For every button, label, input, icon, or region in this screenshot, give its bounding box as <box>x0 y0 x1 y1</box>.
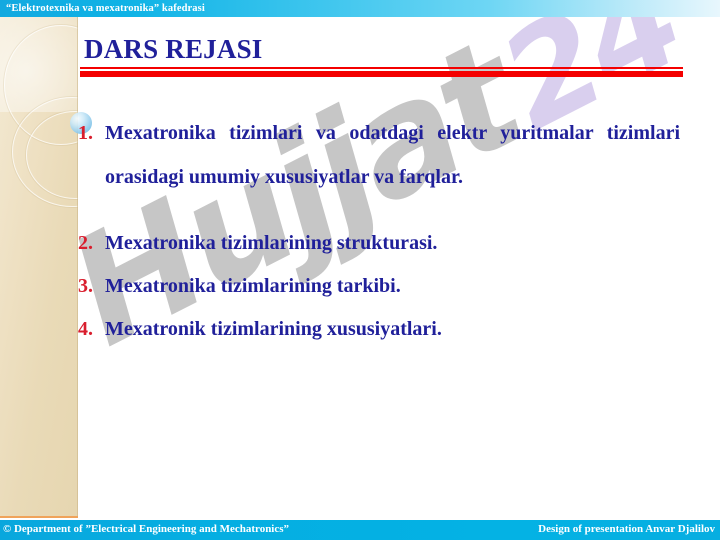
footer-copyright: © Department of ”Electrical Engineering … <box>3 523 289 535</box>
agenda-list: 1. Mexatronika tizimlari va odatdagi ele… <box>78 95 698 344</box>
list-item: 3. Mexatronika tizimlarining tarkibi. <box>78 271 698 301</box>
list-item-number: 4. <box>78 314 105 344</box>
list-item-label: Mexatronik tizimlarining xususiyatlari. <box>105 314 698 344</box>
footer-credit: Design of presentation Anvar Djalilov <box>538 523 715 535</box>
presentation-slide: Hujjat 24 “Elektrotexnika va mexatronika… <box>0 0 720 540</box>
slide-content: DARS REJASI 1. Mexatronika tizimlari va … <box>0 17 720 518</box>
divider-thick-line <box>80 71 683 77</box>
page-title: DARS REJASI <box>84 34 263 65</box>
list-item-label: Mexatronika tizimlari va odatdagi elektr… <box>105 111 698 199</box>
list-item: 1. Mexatronika tizimlari va odatdagi ele… <box>78 111 698 199</box>
list-item-number: 3. <box>78 271 105 301</box>
list-item-number: 1. <box>78 111 105 155</box>
list-item: 2. Mexatronika tizimlarining strukturasi… <box>78 228 698 258</box>
list-item: 4. Mexatronik tizimlarining xususiyatlar… <box>78 314 698 344</box>
footer-bar: © Department of ”Electrical Engineering … <box>0 520 720 540</box>
header-bar: “Elektrotexnika va mexatronika” kafedras… <box>0 0 720 17</box>
list-item-label: Mexatronika tizimlarining strukturasi. <box>105 228 698 258</box>
department-title: “Elektrotexnika va mexatronika” kafedras… <box>6 1 205 16</box>
list-item-label: Mexatronika tizimlarining tarkibi. <box>105 271 698 301</box>
list-item-number: 2. <box>78 228 105 258</box>
title-divider <box>80 67 683 77</box>
